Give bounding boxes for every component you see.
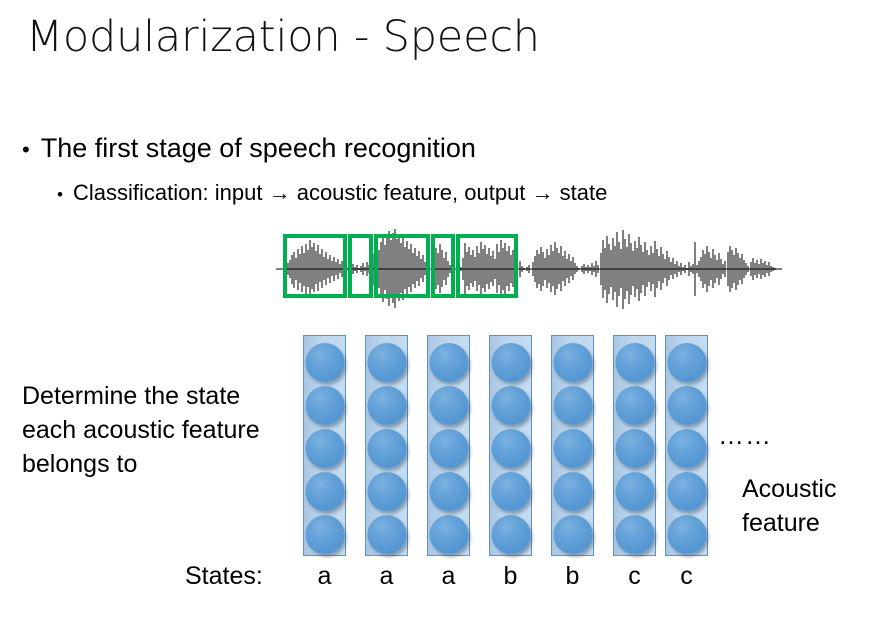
neuron xyxy=(553,343,592,382)
neuron xyxy=(553,386,592,425)
ellipsis-dots: …… xyxy=(718,420,772,451)
neuron xyxy=(429,515,468,554)
neuron xyxy=(667,472,706,511)
state-letter-3: a xyxy=(427,562,470,591)
neuron xyxy=(491,386,530,425)
neuron xyxy=(367,515,406,554)
state-column-6[interactable] xyxy=(613,335,656,556)
state-column-5[interactable] xyxy=(551,335,594,556)
neuron xyxy=(491,343,530,382)
neuron xyxy=(429,343,468,382)
state-letter-7: c xyxy=(665,562,708,591)
neuron xyxy=(429,386,468,425)
neuron xyxy=(367,472,406,511)
neuron xyxy=(667,343,706,382)
neuron xyxy=(667,429,706,468)
neuron xyxy=(615,343,654,382)
neuron xyxy=(667,386,706,425)
page-title: Modularization - Speech xyxy=(26,12,540,62)
neuron xyxy=(491,429,530,468)
neuron xyxy=(615,515,654,554)
determine-state-note: Determine the state each acoustic featur… xyxy=(22,379,300,481)
waveform-segment-box-3[interactable] xyxy=(374,234,430,298)
neuron xyxy=(491,515,530,554)
slide-canvas: Modularization - Speech • The first stag… xyxy=(0,0,872,618)
state-column-2[interactable] xyxy=(365,335,408,556)
neuron xyxy=(367,343,406,382)
state-letter-4: b xyxy=(489,562,532,591)
neuron xyxy=(615,472,654,511)
bullet-level-2-text: Classification: input → acoustic feature… xyxy=(73,180,607,206)
neuron xyxy=(615,429,654,468)
waveform-segment-box-4[interactable] xyxy=(431,234,455,298)
neuron xyxy=(553,429,592,468)
bullet-level-1-text: The first stage of speech recognition xyxy=(41,133,476,164)
acoustic-feature-label: Acoustic feature xyxy=(742,472,872,540)
state-column-4[interactable] xyxy=(489,335,532,556)
neuron xyxy=(367,429,406,468)
state-column-3[interactable] xyxy=(427,335,470,556)
neuron xyxy=(305,515,344,554)
waveform-segment-box-5[interactable] xyxy=(456,234,518,298)
neuron xyxy=(305,429,344,468)
state-letter-2: a xyxy=(365,562,408,591)
state-column-7[interactable] xyxy=(665,335,708,556)
neuron xyxy=(667,515,706,554)
neuron xyxy=(305,343,344,382)
waveform-segment-box-2[interactable] xyxy=(348,234,373,298)
state-column-1[interactable] xyxy=(303,335,346,556)
neuron xyxy=(615,386,654,425)
neuron xyxy=(553,515,592,554)
bullet-dot-icon: • xyxy=(22,139,30,161)
state-letter-6: c xyxy=(613,562,656,591)
state-letter-5: b xyxy=(551,562,594,591)
neuron xyxy=(553,472,592,511)
bullet-level-1: • The first stage of speech recognition xyxy=(22,133,476,164)
bullet-dot-icon: • xyxy=(57,186,63,203)
neuron xyxy=(429,472,468,511)
neuron xyxy=(491,472,530,511)
neuron xyxy=(367,386,406,425)
states-label: States: xyxy=(185,562,263,591)
neuron xyxy=(429,429,468,468)
bullet-level-2: • Classification: input → acoustic featu… xyxy=(57,180,607,206)
state-letter-1: a xyxy=(303,562,346,591)
waveform-segment-box-1[interactable] xyxy=(283,234,347,298)
speech-waveform xyxy=(276,228,782,310)
neuron xyxy=(305,386,344,425)
neuron xyxy=(305,472,344,511)
